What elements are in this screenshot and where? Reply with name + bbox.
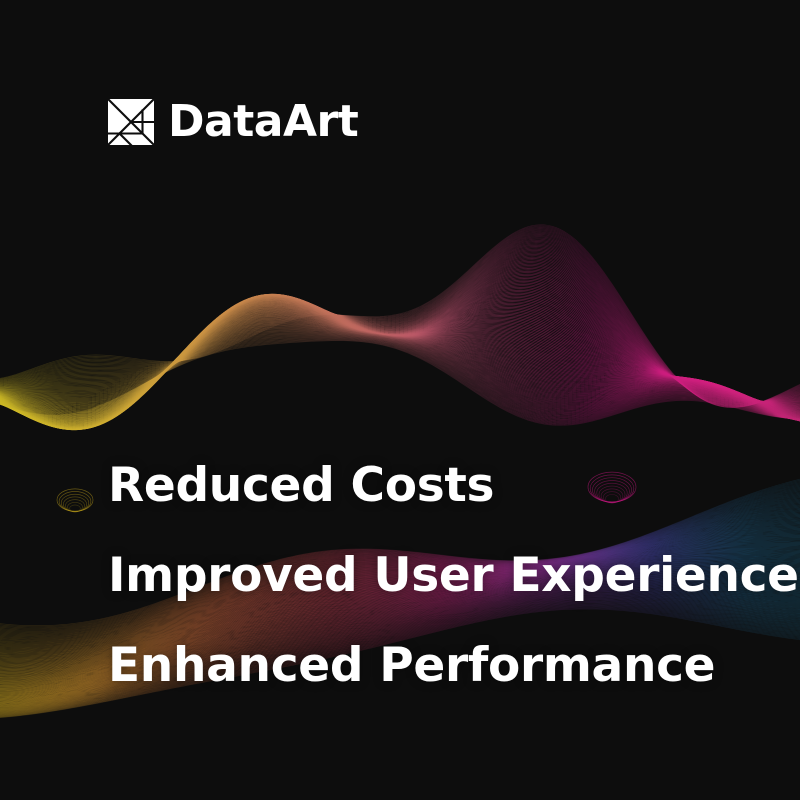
poster-canvas: DataArt Reduced Costs Improved User Expe…	[0, 0, 800, 800]
headline-improved-user-experience: Improved User Experience	[108, 552, 799, 599]
headline-reduced-costs: Reduced Costs	[108, 462, 799, 509]
headline-list: Reduced Costs Improved User Experience E…	[108, 462, 799, 689]
brand-wordmark: DataArt	[168, 100, 358, 144]
upper-wave-band	[0, 225, 800, 430]
brand-logo: DataArt	[108, 99, 358, 145]
headline-enhanced-performance: Enhanced Performance	[108, 642, 799, 689]
dataart-tangram-square-icon	[108, 99, 154, 145]
